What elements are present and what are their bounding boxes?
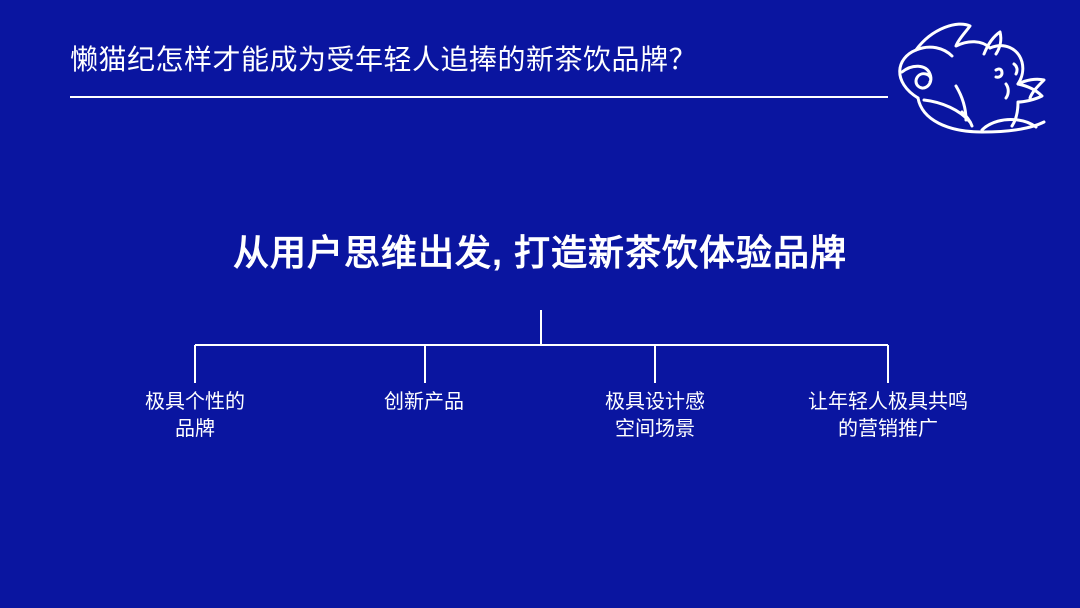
tree-leaf-4: 让年轻人极具共鸣 的营销推广 <box>768 389 1008 443</box>
tree-leaf-3-line-1: 极具设计感 <box>555 389 755 416</box>
tree-leaf-2-line-1: 创新产品 <box>324 389 524 416</box>
tree-connectors <box>0 300 1080 396</box>
lazy-cat-logo-icon <box>872 8 1072 144</box>
page-title: 懒猫纪怎样才能成为受年轻人追捧的新茶饮品牌？ <box>70 40 697 80</box>
tree-leaf-2: 创新产品 <box>324 389 524 416</box>
tree-leaf-labels: 极具个性的 品牌 创新产品 极具设计感 空间场景 让年轻人极具共鸣 的营销推广 <box>0 389 1080 459</box>
main-heading: 从用户思维出发, 打造新茶饮体验品牌 <box>0 230 1080 276</box>
tree-leaf-1: 极具个性的 品牌 <box>95 389 295 443</box>
tree-leaf-4-line-1: 让年轻人极具共鸣 <box>768 389 1008 416</box>
tree-leaf-3-line-2: 空间场景 <box>555 416 755 443</box>
tree-leaf-1-line-1: 极具个性的 <box>95 389 295 416</box>
tree-leaf-4-line-2: 的营销推广 <box>768 416 1008 443</box>
header-divider <box>70 96 888 98</box>
tree-leaf-3: 极具设计感 空间场景 <box>555 389 755 443</box>
tree-leaf-1-line-2: 品牌 <box>95 416 295 443</box>
slide-canvas: 懒猫纪怎样才能成为受年轻人追捧的新茶饮品牌？ <box>0 0 1080 608</box>
